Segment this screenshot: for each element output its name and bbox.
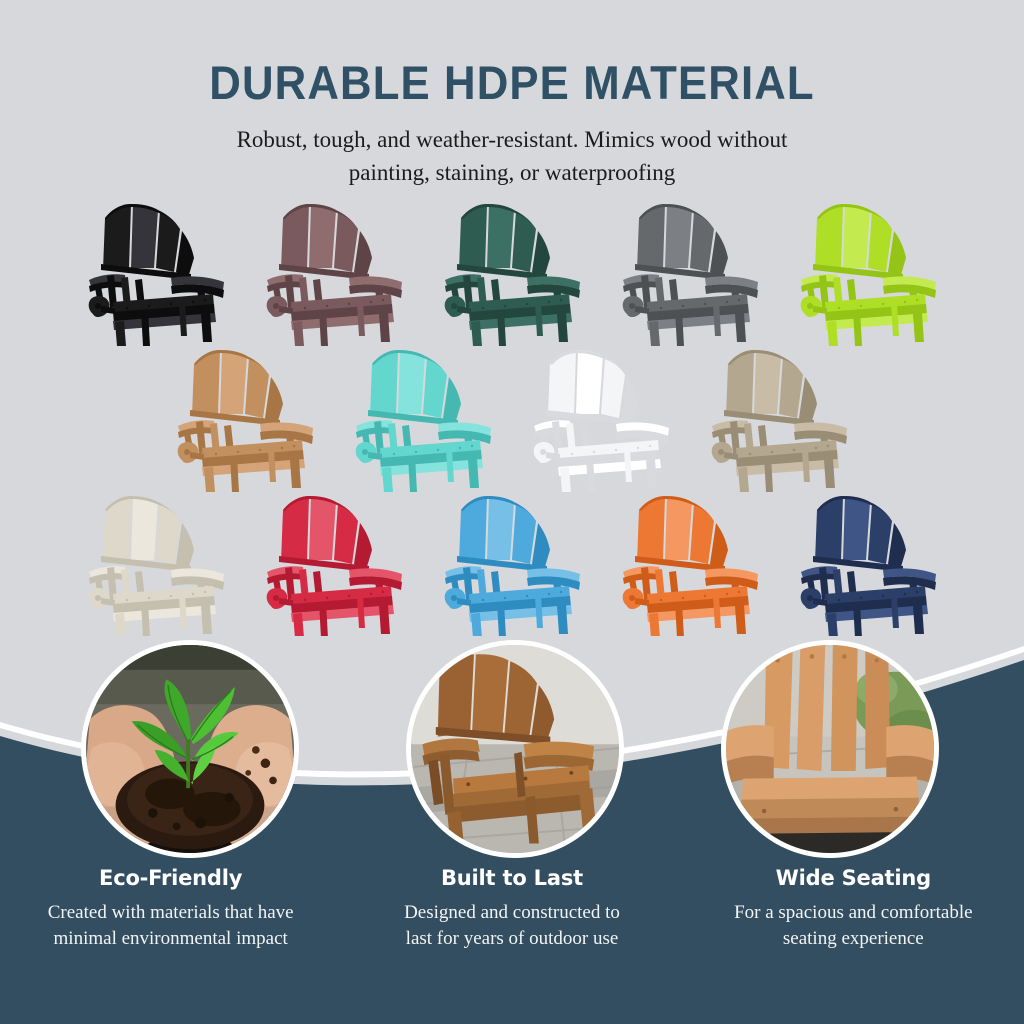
chair-swatch-orange[interactable] <box>613 488 768 640</box>
chair-swatch-teak-tan[interactable] <box>168 342 323 494</box>
chair-svg <box>613 488 768 640</box>
feature-image-eco-friendly <box>81 640 299 858</box>
feature-desc-line-1: Designed and constructed to <box>355 900 668 926</box>
chair-swatch-turquoise[interactable] <box>346 342 501 494</box>
feature-desc-line-2: minimal environmental impact <box>14 926 327 952</box>
chair-svg <box>257 488 412 640</box>
chair-swatch-weathered-wood[interactable] <box>702 342 857 494</box>
subtitle-line-1: Robust, tough, and weather-resistant. Mi… <box>0 124 1024 157</box>
subtitle-line-2: painting, staining, or waterproofing <box>0 157 1024 190</box>
page-subtitle: Robust, tough, and weather-resistant. Mi… <box>0 124 1024 189</box>
chair-row-1 <box>0 196 1024 348</box>
hands-seedling-art <box>86 645 294 853</box>
page-title: DURABLE HDPE MATERIAL <box>36 58 988 107</box>
feature-description: Designed and constructed to last for yea… <box>355 900 668 952</box>
chair-color-swatch-grid <box>0 196 1024 640</box>
chair-swatch-ivory-beige[interactable] <box>79 488 234 640</box>
hands-seedling-illustration <box>86 645 294 853</box>
feature-image-built-to-last <box>406 640 624 858</box>
feature-wide-seating: Wide Seating For a spacious and comforta… <box>683 866 1024 952</box>
chair-swatch-lime-green[interactable] <box>791 196 946 348</box>
chair-svg <box>79 196 234 348</box>
chair-svg <box>791 196 946 348</box>
feature-title: Eco-Friendly <box>14 866 327 890</box>
chair-svg <box>435 196 590 348</box>
chair-svg <box>702 342 857 494</box>
chair-swatch-dark-green[interactable] <box>435 196 590 348</box>
chair-svg <box>791 488 946 640</box>
chair-row-2 <box>0 342 1024 494</box>
wide-seat-illustration <box>726 645 934 853</box>
chair-swatch-light-blue[interactable] <box>435 488 590 640</box>
feature-desc-line-2: seating experience <box>697 926 1010 952</box>
chair-svg <box>524 342 679 494</box>
chair-svg <box>168 342 323 494</box>
feature-title: Built to Last <box>355 866 668 890</box>
patio-chair-illustration <box>411 645 619 853</box>
feature-desc-line-1: Created with materials that have <box>14 900 327 926</box>
feature-text-row: Eco-Friendly Created with materials that… <box>0 866 1024 952</box>
feature-image-wide-seating <box>721 640 939 858</box>
feature-desc-line-1: For a spacious and comfortable <box>697 900 1010 926</box>
chair-swatch-gray[interactable] <box>613 196 768 348</box>
chair-swatch-white[interactable] <box>524 342 679 494</box>
wide-seat-art <box>726 645 934 853</box>
feature-circles <box>0 636 1024 866</box>
header: DURABLE HDPE MATERIAL Robust, tough, and… <box>0 0 1024 190</box>
chair-svg <box>79 488 234 640</box>
feature-title: Wide Seating <box>697 866 1010 890</box>
chair-swatch-black[interactable] <box>79 196 234 348</box>
chair-svg <box>257 196 412 348</box>
chair-svg <box>613 196 768 348</box>
chair-svg <box>346 342 501 494</box>
feature-description: Created with materials that have minimal… <box>14 900 327 952</box>
chair-svg <box>435 488 590 640</box>
chair-swatch-navy-blue[interactable] <box>791 488 946 640</box>
patio-chair-art <box>411 645 619 853</box>
feature-built-to-last: Built to Last Designed and constructed t… <box>341 866 682 952</box>
chair-swatch-brown-mauve[interactable] <box>257 196 412 348</box>
feature-description: For a spacious and comfortable seating e… <box>697 900 1010 952</box>
chair-row-3 <box>0 488 1024 640</box>
chair-swatch-crimson-red[interactable] <box>257 488 412 640</box>
feature-desc-line-2: last for years of outdoor use <box>355 926 668 952</box>
feature-eco-friendly: Eco-Friendly Created with materials that… <box>0 866 341 952</box>
